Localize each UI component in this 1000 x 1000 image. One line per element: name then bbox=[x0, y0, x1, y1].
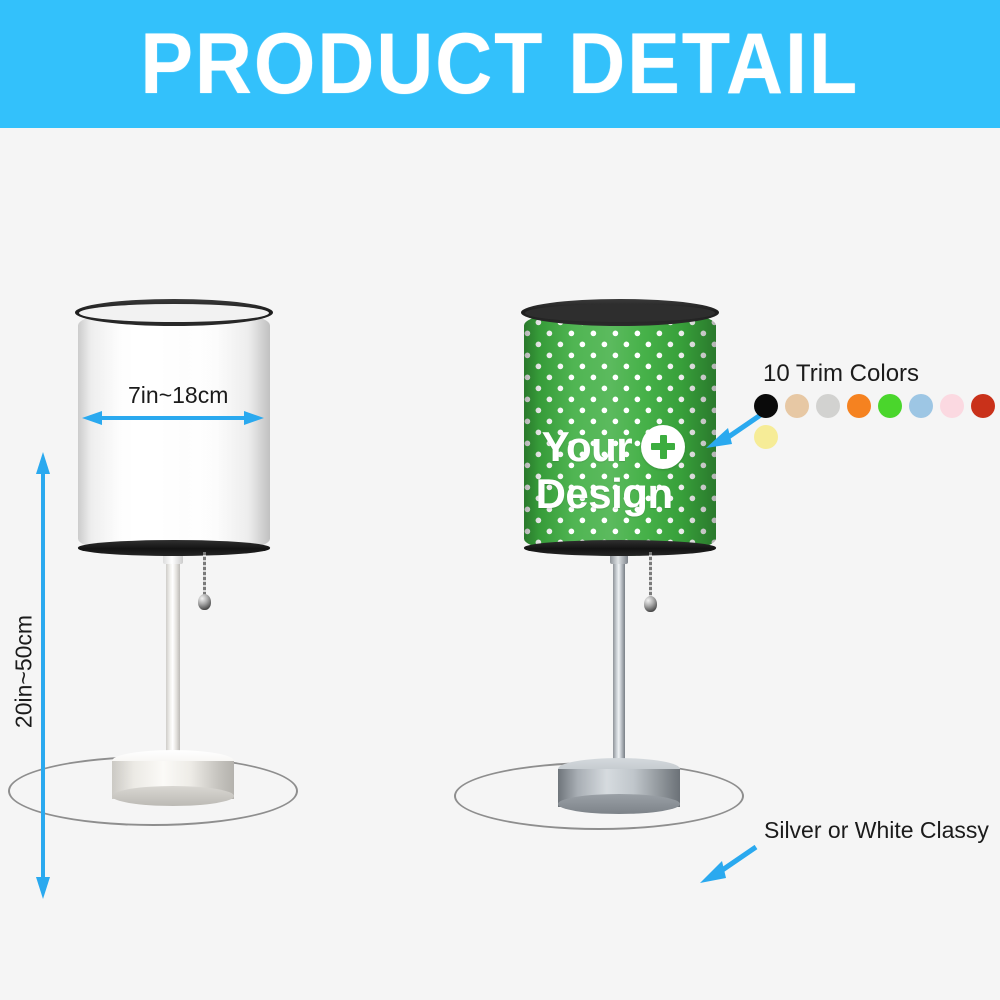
shade-top-trim bbox=[521, 299, 719, 326]
green-lamp-base bbox=[558, 758, 680, 818]
green-lamp-stem bbox=[613, 556, 625, 768]
trim-color-swatches bbox=[754, 394, 1000, 449]
trim-swatch-orange[interactable] bbox=[847, 394, 871, 418]
artwork-line-1-row: Your bbox=[534, 425, 707, 469]
trim-colors-title: 10 Trim Colors bbox=[763, 360, 919, 388]
green-lamp-pull-chain[interactable] bbox=[642, 552, 658, 614]
base-bottom-face bbox=[112, 786, 234, 806]
shade-top-trim-inner bbox=[525, 304, 715, 322]
pull-chain-ball bbox=[198, 594, 211, 610]
trim-swatch-tan[interactable] bbox=[785, 394, 809, 418]
page-title: PRODUCT DETAIL bbox=[141, 21, 860, 107]
white-lamp-stem bbox=[166, 556, 180, 761]
shade-surface: Your Design bbox=[524, 308, 716, 556]
white-lamp-pull-chain[interactable] bbox=[196, 552, 212, 612]
shade-surface bbox=[78, 308, 270, 556]
pull-chain-beads bbox=[649, 552, 652, 598]
trim-swatch-light-gray[interactable] bbox=[816, 394, 840, 418]
green-lamp: Your Design bbox=[440, 128, 770, 848]
trim-swatch-red[interactable] bbox=[971, 394, 995, 418]
plus-icon bbox=[641, 425, 685, 469]
height-dimension-label: 20in~50cm bbox=[11, 602, 38, 742]
green-lamp-shade: Your Design bbox=[524, 308, 716, 556]
shade-bottom-trim bbox=[524, 540, 716, 556]
base-finish-pointer-arrow bbox=[700, 843, 760, 883]
height-dimension-arrow bbox=[36, 452, 50, 899]
shade-gloss-overlay bbox=[78, 308, 270, 556]
pull-chain-ball bbox=[644, 596, 657, 612]
shade-artwork: Your Design bbox=[534, 425, 707, 514]
base-bottom-face bbox=[558, 794, 680, 814]
artwork-line-2-row: Design bbox=[534, 474, 707, 514]
base-finish-label: Silver or White Classy bbox=[764, 817, 989, 844]
trim-swatch-green[interactable] bbox=[878, 394, 902, 418]
trim-swatch-light-blue[interactable] bbox=[909, 394, 933, 418]
product-stage: Your Design 7in~18cm bbox=[0, 128, 1000, 1000]
shade-top-trim-inner bbox=[79, 304, 269, 322]
shade-top-trim bbox=[75, 299, 273, 326]
trim-swatch-pink[interactable] bbox=[940, 394, 964, 418]
pull-chain-beads bbox=[203, 552, 206, 596]
white-lamp-shade bbox=[78, 308, 270, 556]
width-dimension-arrow bbox=[82, 411, 264, 425]
product-detail-banner: PRODUCT DETAIL bbox=[0, 0, 1000, 128]
artwork-line-2: Design bbox=[536, 474, 673, 514]
shade-bottom-trim bbox=[78, 540, 270, 556]
trim-swatch-black[interactable] bbox=[754, 394, 778, 418]
width-dimension-label: 7in~18cm bbox=[128, 382, 228, 409]
artwork-line-1: Your bbox=[542, 427, 633, 467]
trim-swatch-yellow[interactable] bbox=[754, 425, 778, 449]
white-lamp-base bbox=[112, 750, 234, 810]
